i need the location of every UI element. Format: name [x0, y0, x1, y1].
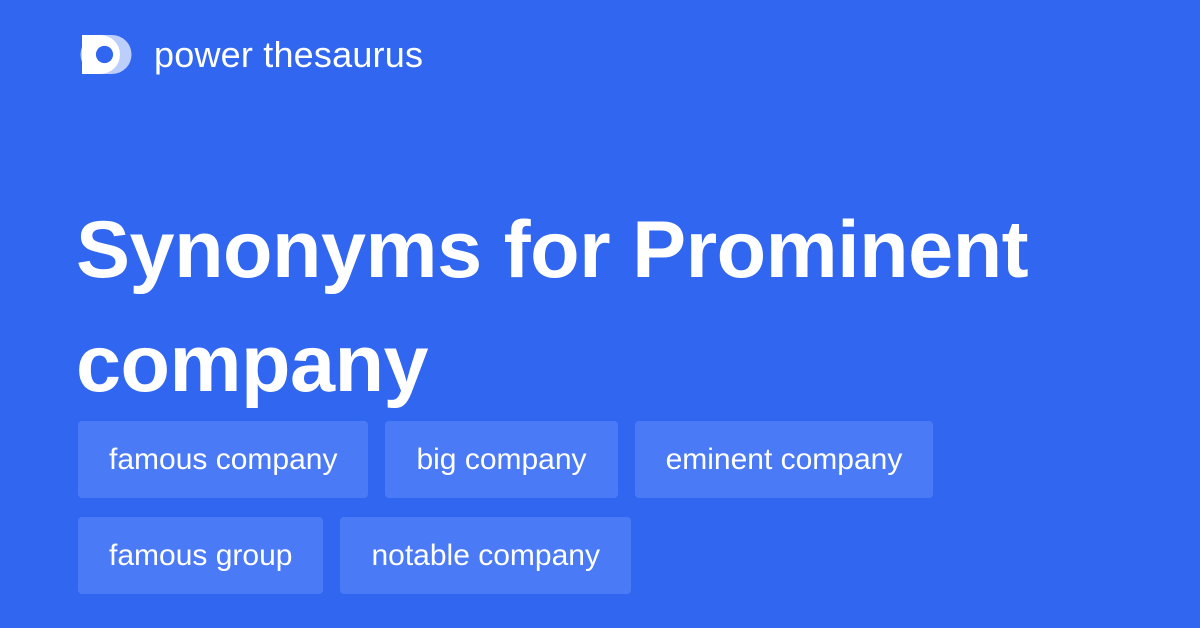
synonym-chip-list: famous company big company eminent compa… — [78, 421, 1138, 594]
synonym-chip[interactable]: notable company — [340, 517, 631, 594]
brand-lockup[interactable]: power thesaurus — [78, 27, 423, 83]
synonym-chip[interactable]: famous company — [78, 421, 368, 498]
share-card: power thesaurus Synonyms for Prominent c… — [0, 0, 1200, 628]
synonym-chip[interactable]: eminent company — [635, 421, 934, 498]
synonym-chip[interactable]: big company — [385, 421, 617, 498]
power-thesaurus-b-logo-icon — [78, 29, 135, 82]
page-title: Synonyms for Prominent company — [76, 193, 1136, 421]
synonym-chip[interactable]: famous group — [78, 517, 323, 594]
brand-name: power thesaurus — [154, 37, 423, 73]
